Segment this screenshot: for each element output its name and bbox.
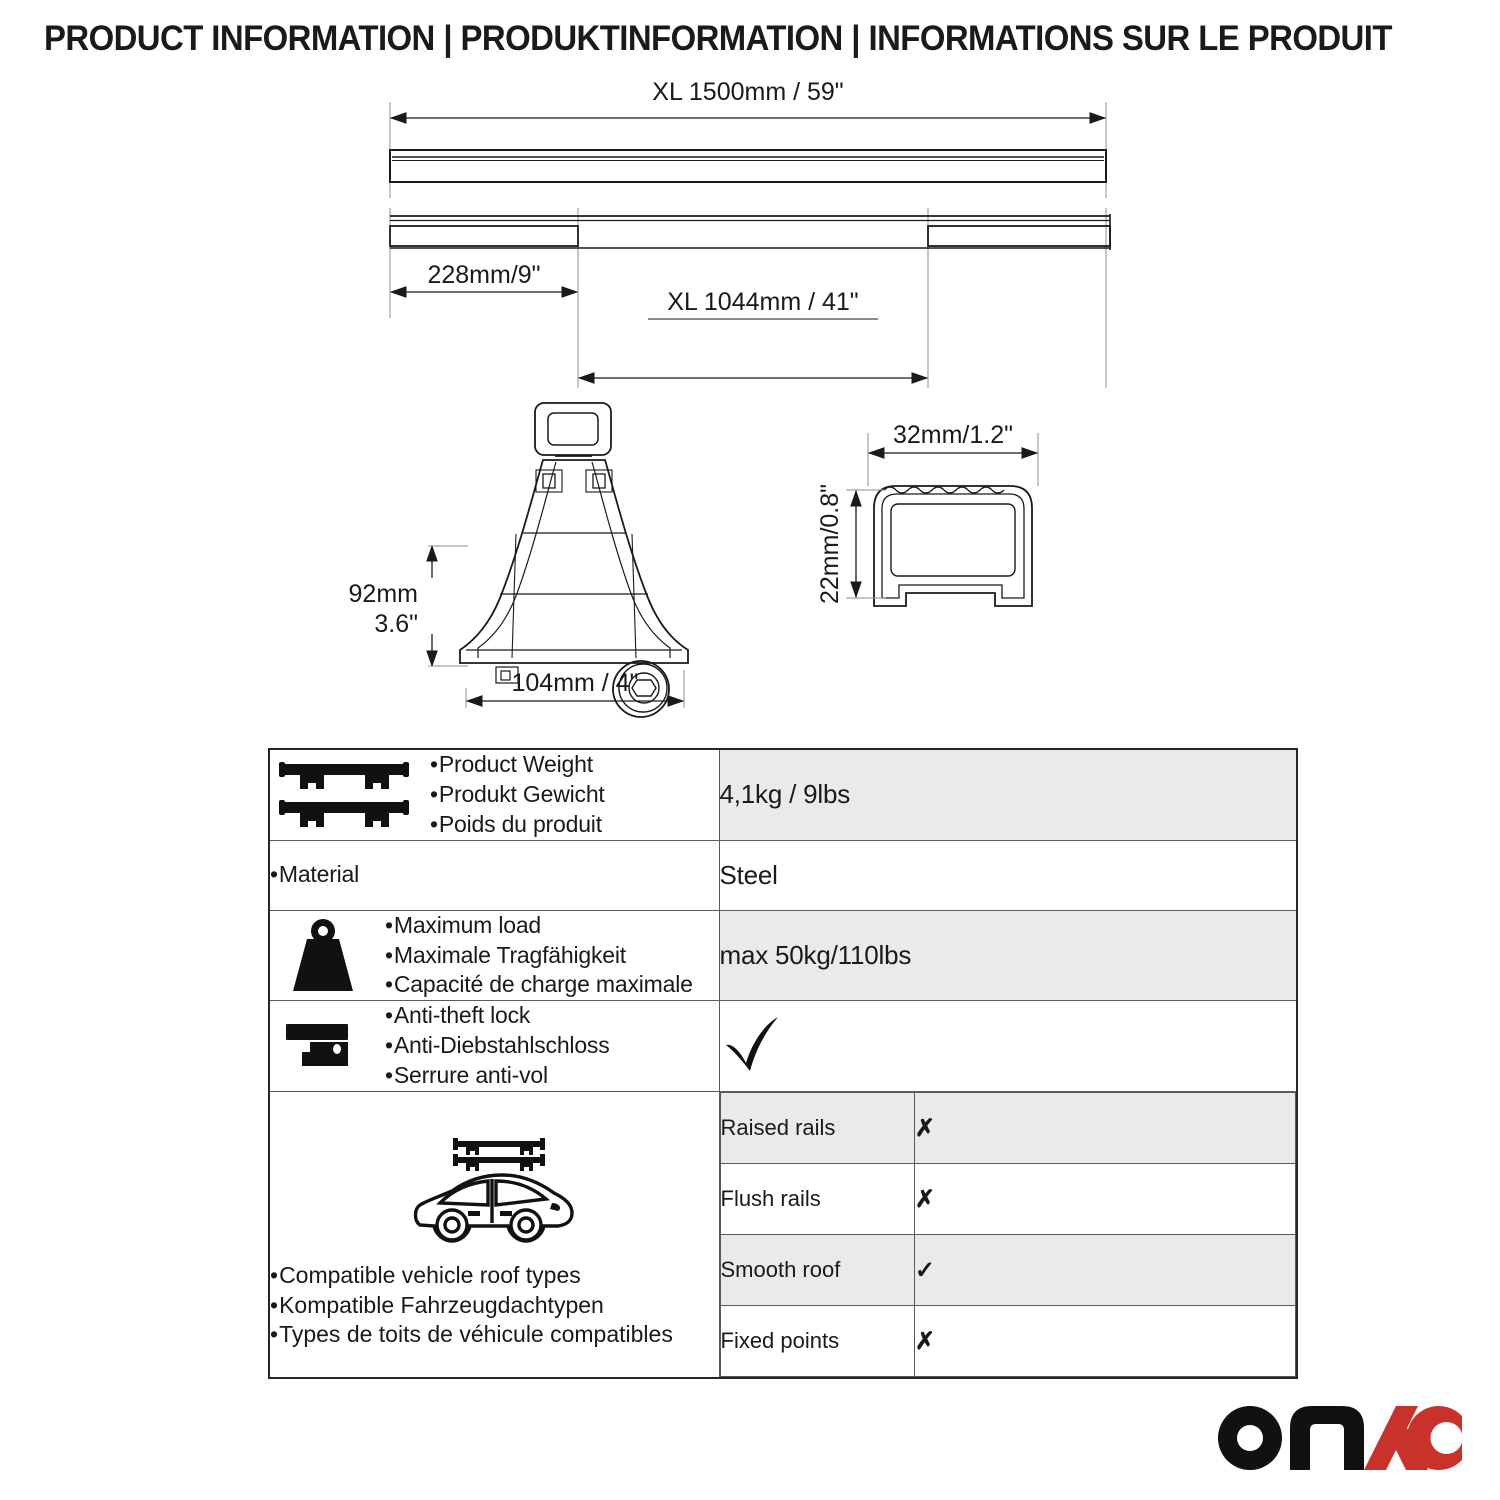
roof-types-cell: Raised rails ✗ Flush rails ✗ — [719, 1092, 1297, 1379]
row-label-cell: Maximum load Maximale Tragfähigkeit Capa… — [269, 910, 719, 1001]
roof-type-mark: ✗ — [914, 1306, 1295, 1377]
row-label-text: Material — [270, 860, 359, 890]
table-row: Anti-theft lock Anti-Diebstahlschloss Se… — [269, 1001, 1297, 1092]
roof-types-table: Raised rails ✗ Flush rails ✗ — [720, 1092, 1297, 1377]
specification-table: Product Weight Produkt Gewicht Poids du … — [268, 748, 1298, 1379]
product-weight-value: 4,1kg / 9lbs — [720, 779, 851, 809]
table-row: Material Steel — [269, 840, 1297, 910]
omac-logo — [1214, 1398, 1464, 1476]
roof-label-cell: Compatible vehicle roof types Kompatible… — [269, 1092, 719, 1379]
dim-bar-length: XL 1500mm / 59" — [652, 78, 843, 106]
dim-profile-width: 32mm/1.2" — [893, 421, 1013, 449]
row-label-cell: Anti-theft lock Anti-Diebstahlschloss Se… — [269, 1001, 719, 1092]
roof-type-row: Raised rails ✗ — [720, 1093, 1296, 1164]
row-label-cell: Product Weight Produkt Gewicht Poids du … — [269, 749, 719, 840]
row-label-cell: Material — [269, 840, 719, 910]
cross-icon: ✗ — [915, 1186, 935, 1213]
cross-icon: ✗ — [915, 1115, 935, 1142]
weight-icon — [270, 917, 375, 995]
dim-foot-width: 104mm / 4" — [512, 669, 639, 697]
car-with-racks-icon — [270, 1119, 719, 1251]
row-value-cell: Steel — [719, 840, 1297, 910]
table-row: Compatible vehicle roof types Kompatible… — [269, 1092, 1297, 1379]
anti-theft-check-icon — [720, 1060, 786, 1077]
roof-type-row: Fixed points ✗ — [720, 1306, 1296, 1377]
technical-drawing-svg: XL 1500mm / 59" 228mm/9" XL 1044mm / 41"… — [0, 78, 1500, 738]
table-row: Maximum load Maximale Tragfähigkeit Capa… — [269, 910, 1297, 1001]
dim-bar-span: XL 1044mm / 41" — [667, 288, 858, 316]
row-value-cell: max 50kg/110lbs — [719, 910, 1297, 1001]
roof-type-name: Raised rails — [720, 1093, 914, 1164]
dim-foot-height-in: 3.6" — [374, 610, 418, 638]
row-value-cell — [719, 1001, 1297, 1092]
omac-logo-svg — [1214, 1398, 1464, 1476]
row-value-cell: 4,1kg / 9lbs — [719, 749, 1297, 840]
material-value: Steel — [720, 860, 778, 890]
roof-type-name: Fixed points — [720, 1306, 914, 1377]
roof-type-row: Flush rails ✗ — [720, 1164, 1296, 1235]
crossbars-icon — [270, 758, 420, 832]
page-header: PRODUCT INFORMATION | PRODUKTINFORMATION… — [0, 0, 1500, 78]
roof-type-mark: ✗ — [914, 1164, 1295, 1235]
roof-type-mark: ✗ — [914, 1093, 1295, 1164]
check-icon: ✓ — [915, 1257, 935, 1284]
roof-type-mark: ✓ — [914, 1235, 1295, 1306]
max-load-value: max 50kg/110lbs — [720, 940, 912, 970]
cross-icon: ✗ — [915, 1328, 935, 1355]
dim-foot-offset: 228mm/9" — [427, 261, 540, 289]
technical-drawings: XL 1500mm / 59" 228mm/9" XL 1044mm / 41"… — [0, 78, 1500, 738]
table-row: Product Weight Produkt Gewicht Poids du … — [269, 749, 1297, 840]
roof-type-row: Smooth roof ✓ — [720, 1235, 1296, 1306]
roof-label-text: Compatible vehicle roof types Kompatible… — [270, 1261, 719, 1351]
lock-icon — [270, 1018, 375, 1074]
row-label-text: Maximum load Maximale Tragfähigkeit Capa… — [385, 911, 693, 1001]
page-title: PRODUCT INFORMATION | PRODUKTINFORMATION… — [44, 19, 1392, 59]
dim-profile-height: 22mm/0.8" — [816, 484, 844, 604]
roof-type-name: Smooth roof — [720, 1235, 914, 1306]
dim-foot-height-mm: 92mm — [349, 580, 418, 608]
row-label-text: Anti-theft lock Anti-Diebstahlschloss Se… — [385, 1001, 610, 1091]
row-label-text: Product Weight Produkt Gewicht Poids du … — [430, 750, 605, 840]
roof-type-name: Flush rails — [720, 1164, 914, 1235]
